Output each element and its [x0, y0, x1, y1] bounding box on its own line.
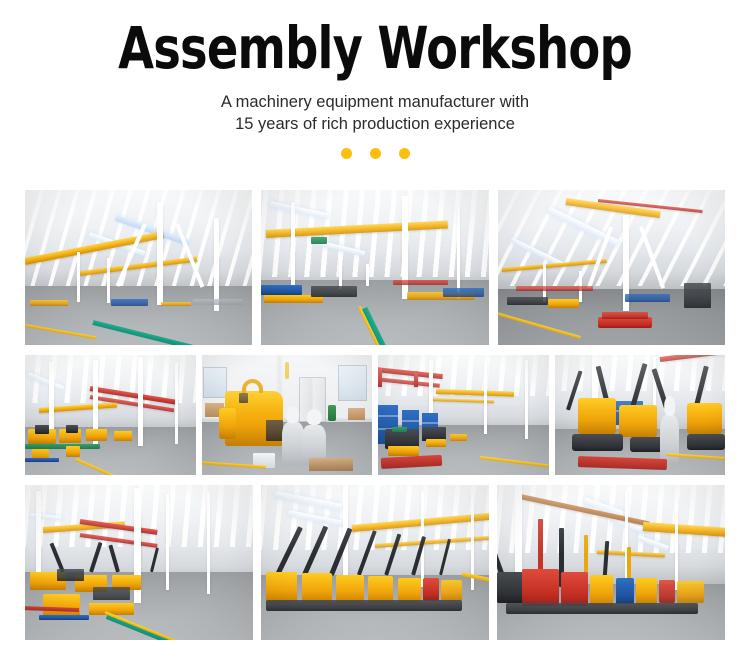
support-column-3 — [525, 360, 528, 439]
red-components-stack-2 — [602, 312, 647, 318]
support-column-3 — [107, 258, 110, 303]
wall-sign — [285, 362, 289, 379]
drilling-rig-yellow — [578, 398, 616, 434]
crane-trolley — [311, 237, 327, 245]
subtitle-line-1: A machinery equipment manufacturer with — [0, 91, 750, 113]
gantry-crane-red — [393, 280, 448, 285]
floor-frame-blue — [39, 615, 89, 620]
drilling-rig-yellow-2 — [636, 578, 657, 604]
page-root: Assembly Workshop A machinery equipment … — [0, 0, 750, 659]
drilling-rig-yellow-3 — [677, 581, 704, 603]
excavator — [684, 283, 711, 308]
drilling-rig-yellow — [590, 575, 613, 606]
red-components-stack — [598, 317, 653, 328]
drilling-rig-yellow-4 — [368, 576, 393, 602]
gallery-photo-3-2[interactable] — [261, 485, 489, 640]
wooden-pallet — [309, 458, 353, 471]
machine-frame-yellow-3 — [86, 429, 106, 441]
worker-1 — [282, 422, 304, 465]
dot-icon-3 — [399, 148, 410, 159]
drilling-rig-yellow-2 — [619, 405, 657, 436]
worker-helmet — [286, 406, 300, 423]
support-column-2 — [77, 252, 80, 302]
rack-shelf — [378, 415, 398, 417]
drilling-rig-yellow-3 — [687, 403, 721, 434]
gallery-photo-3-1[interactable] — [25, 485, 253, 640]
worker-body — [282, 422, 304, 465]
support-stand-yellow-2 — [66, 446, 80, 457]
machine-part-dark — [57, 569, 84, 581]
engine-side-block — [219, 408, 236, 439]
worker-body — [660, 415, 679, 465]
gallery-photo-2-1[interactable] — [25, 355, 196, 475]
crawler-track-dark-3 — [687, 434, 725, 450]
machine-group-3 — [625, 294, 670, 302]
machine-part-dark — [35, 425, 49, 435]
gallery-photo-2-4[interactable] — [555, 355, 726, 475]
window — [203, 367, 227, 398]
gantry-crane-red — [516, 286, 593, 291]
crawler-track-dark — [572, 434, 623, 451]
header: Assembly Workshop A machinery equipment … — [0, 0, 750, 159]
support-column-3 — [457, 206, 460, 299]
gantry-leg-red — [378, 368, 382, 387]
crawler-track-row — [506, 603, 698, 614]
machine-group-3 — [161, 302, 191, 307]
support-column-3 — [675, 501, 678, 591]
photo-gallery — [25, 190, 725, 640]
engine-detail — [239, 393, 248, 403]
drilling-rig-red — [423, 578, 439, 601]
support-column — [157, 202, 163, 304]
machine-group — [548, 299, 580, 308]
page-subtitle: A machinery equipment manufacturer with … — [0, 91, 750, 135]
machine-group-2 — [507, 297, 548, 305]
support-column-5 — [366, 264, 369, 286]
drilling-rig-yellow-6 — [441, 580, 462, 602]
dot-icon-2 — [370, 148, 381, 159]
waste-bin — [328, 405, 337, 421]
machine-part-dark-2 — [66, 425, 78, 433]
parts-rack — [261, 285, 302, 296]
drilling-rig-red — [522, 569, 558, 606]
window-2 — [338, 365, 367, 401]
support-column-4 — [175, 362, 178, 444]
machine-group-2 — [311, 286, 356, 297]
conveyor-stand-green — [25, 444, 100, 449]
page-title: Assembly Workshop — [75, 18, 675, 78]
drilling-rig-red-2 — [561, 572, 588, 606]
machine-group-2 — [111, 299, 147, 307]
support-column-4 — [207, 491, 210, 593]
gallery-photo-1-2[interactable] — [261, 190, 488, 345]
support-column-3 — [166, 494, 169, 590]
machine-group — [30, 300, 69, 306]
worker-helmet — [307, 409, 322, 425]
gallery-row-3 — [25, 485, 725, 640]
machine-group-4 — [443, 288, 484, 297]
machine-group-4 — [193, 299, 243, 305]
worker-helmet — [664, 396, 676, 416]
gallery-photo-3-3[interactable] — [497, 485, 725, 640]
support-stand-yellow-3 — [450, 434, 467, 441]
gantry-leg-red-2 — [414, 371, 418, 388]
support-column — [291, 202, 295, 292]
rack-shelf — [422, 422, 437, 424]
engine-lifting-hook — [242, 379, 262, 393]
decorative-dots — [0, 148, 750, 159]
gallery-photo-2-3[interactable] — [378, 355, 549, 475]
support-column-4 — [339, 258, 342, 289]
gallery-photo-2-2[interactable] — [202, 355, 373, 475]
dot-icon-1 — [341, 148, 352, 159]
gallery-photo-1-3[interactable] — [498, 190, 725, 345]
machine-frame-yellow-4 — [114, 431, 133, 442]
worker-1 — [660, 415, 679, 465]
crawler-track-dark — [93, 587, 129, 599]
gallery-row-2 — [25, 355, 725, 475]
drilling-rig-blue — [616, 578, 634, 604]
crawler-track-row — [266, 600, 462, 611]
excavator-dark — [497, 572, 524, 603]
gallery-row-1 — [25, 190, 725, 345]
drilling-rig-yellow-3 — [336, 575, 363, 603]
support-stand-yellow-2 — [426, 439, 446, 447]
support-column-4 — [214, 218, 219, 311]
subtitle-line-2: 15 years of rich production experience — [0, 113, 750, 135]
drilling-rig-yellow — [266, 572, 298, 603]
drilling-rig-yellow-2 — [302, 573, 332, 602]
rack-shelf — [402, 420, 419, 422]
support-column-2 — [484, 362, 487, 434]
support-column-3 — [138, 357, 143, 446]
chassis-detail-green — [392, 427, 407, 432]
drilling-rig-red-3 — [659, 580, 675, 603]
floor-frame-blue — [25, 458, 59, 462]
cardboard-boxes-3 — [348, 408, 365, 420]
gallery-photo-1-1[interactable] — [25, 190, 252, 345]
support-stand-yellow — [388, 446, 419, 456]
